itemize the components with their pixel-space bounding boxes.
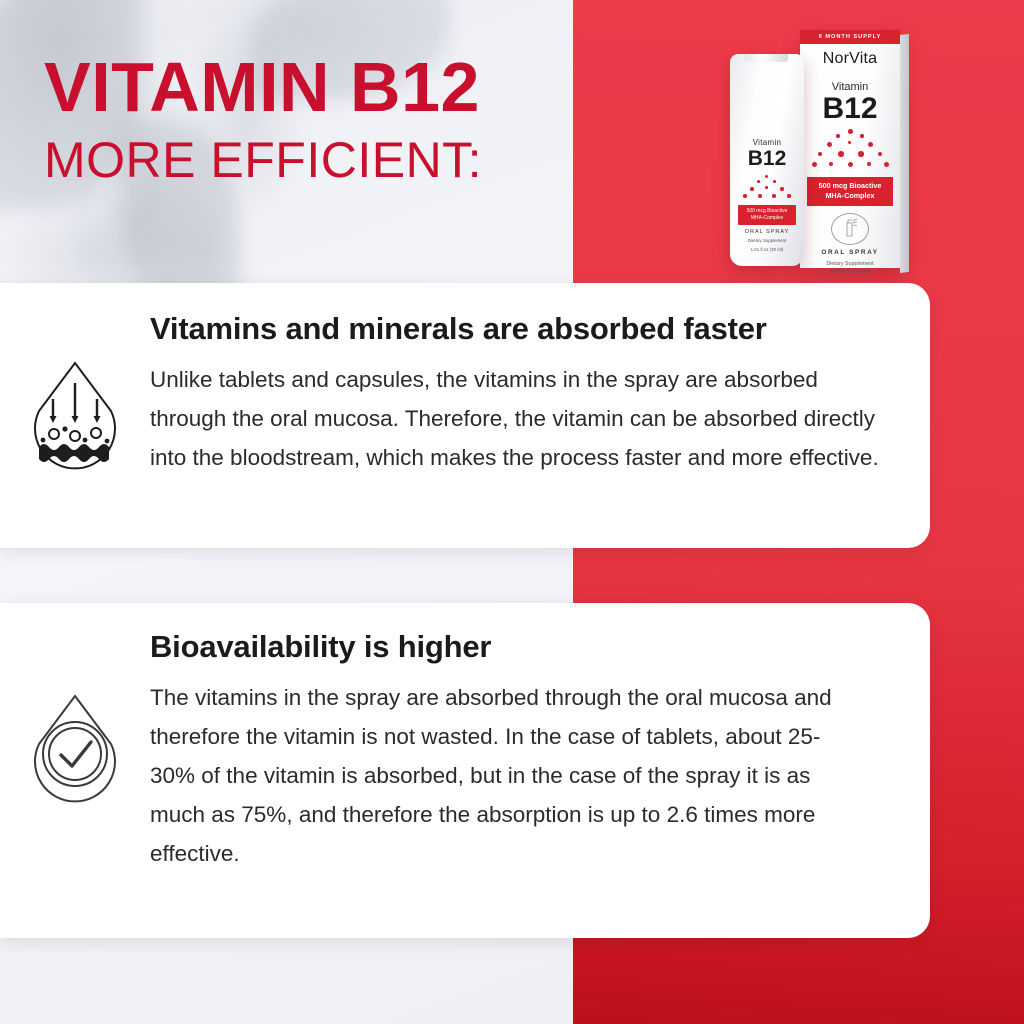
card-body: Vitamins and minerals are absorbed faste…: [150, 283, 930, 478]
card-text: The vitamins in the spray are absorbed t…: [150, 679, 840, 874]
box-volume-label: 1.01 fl oz (30 ml): [800, 269, 900, 275]
bottle-vitamin-code: B12: [730, 148, 804, 169]
bottle-claim-banner: 500 mcg Bioactive MHA-Complex: [738, 205, 796, 225]
product-box-side: [900, 34, 909, 273]
infographic-page: VITAMIN B12 MORE EFFICIENT: 6 MONTH SUPP…: [0, 0, 1024, 1024]
droplet-absorption-icon: [21, 355, 129, 471]
bottle-dots-graphic: [730, 173, 804, 203]
product-bottle: Vitamin B12 500 mcg Bioactive MHA-Comple…: [730, 54, 804, 266]
product-image: 6 MONTH SUPPLY NorVita Vitamin B12: [722, 22, 912, 272]
page-subtitle: MORE EFFICIENT:: [44, 134, 564, 187]
spray-dots-graphic: [800, 127, 900, 175]
box-claim-banner: 500 mcg Bioactive MHA-Complex: [807, 177, 893, 206]
box-oral-spray-label: ORAL SPRAY: [800, 249, 900, 256]
card-title: Vitamins and minerals are absorbed faste…: [150, 283, 900, 347]
bottle-supplement-label: Dietary Supplement: [730, 238, 804, 244]
card-text: Unlike tablets and capsules, the vitamin…: [150, 361, 880, 478]
droplet-check-icon: [21, 688, 129, 804]
bottle-vitamin-label: Vitamin: [730, 138, 804, 147]
headline-block: VITAMIN B12 MORE EFFICIENT:: [44, 52, 564, 187]
card-body: Bioavailability is higher The vitamins i…: [150, 603, 930, 874]
benefit-card-absorption: Vitamins and minerals are absorbed faste…: [0, 283, 930, 548]
bottle-oral-spray-label: ORAL SPRAY: [730, 229, 804, 235]
card-icon-slot: [0, 603, 150, 804]
spray-bottle-icon: [831, 213, 869, 245]
page-title: VITAMIN B12: [44, 52, 564, 122]
box-supplement-label: Dietary Supplement: [800, 261, 900, 267]
box-vitamin-code: B12: [800, 94, 900, 124]
product-box: 6 MONTH SUPPLY NorVita Vitamin B12: [800, 30, 900, 268]
card-title: Bioavailability is higher: [150, 603, 900, 665]
benefit-card-bioavailability: Bioavailability is higher The vitamins i…: [0, 603, 930, 938]
bottle-cap: [744, 54, 788, 62]
brand-name: NorVita: [800, 50, 900, 68]
bottle-label: Vitamin B12 500 mcg Bioactive MHA-Comple…: [730, 138, 804, 253]
card-icon-slot: [0, 283, 150, 471]
bottle-volume-label: 1.01 fl oz (30 ml): [730, 247, 804, 253]
supply-banner: 6 MONTH SUPPLY: [800, 30, 900, 44]
